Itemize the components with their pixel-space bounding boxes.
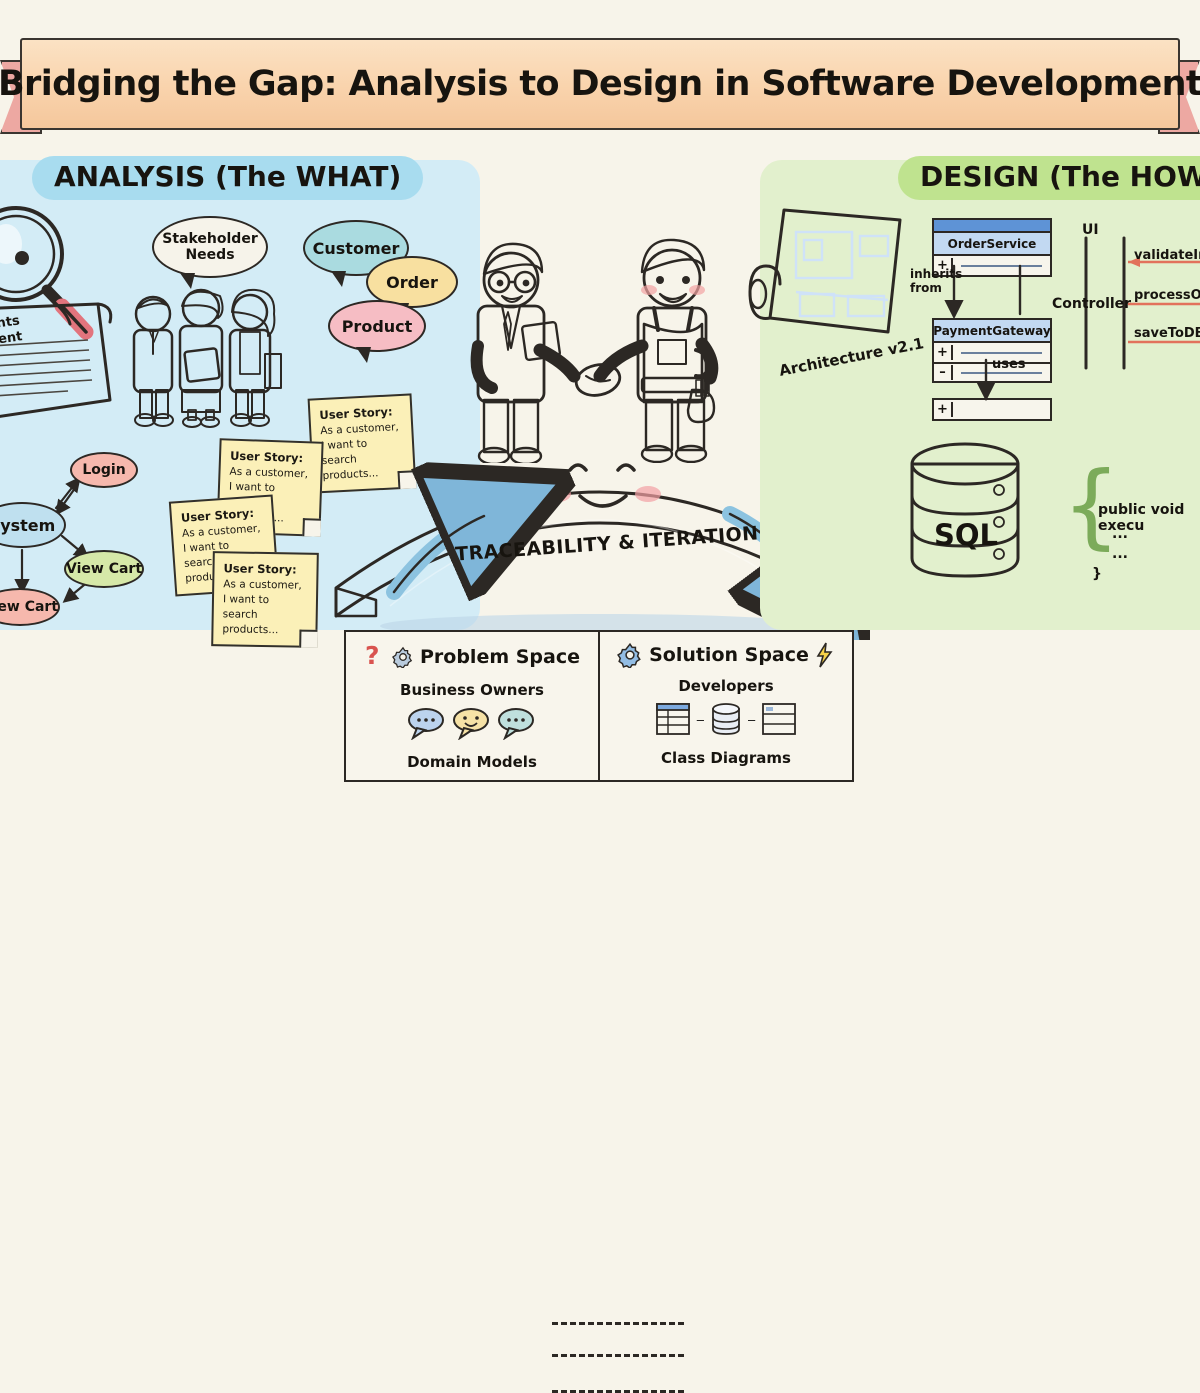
sequence-lifeline-controller: Controller [1052,296,1131,312]
sequence-message-save-to-db: saveToDB [1134,326,1200,341]
page-title: Bridging the Gap: Analysis to Design in … [0,64,1200,104]
legend-problem-space: ? Problem Space Business Owners [346,632,600,780]
sequence-lifeline-ui: UI [1082,222,1099,238]
table-grid-icon [654,701,692,737]
speech-bubble-blue-icon [407,706,447,740]
sql-database-label: SQL [934,518,998,552]
legend-problem-title: Problem Space [420,646,580,668]
analysis-section-heading: ANALYSIS (The WHAT) [32,156,423,200]
stakeholders-illustration [120,268,300,428]
sticky-line-2: I want to search [223,593,308,624]
legend-solution-space: Solution Space Developers – – [600,632,852,780]
uml-inherits-line-2: from [910,282,962,296]
sticky-note-user-story: User Story: As a customer, I want to sea… [211,551,319,648]
code-line-ellipsis-2: ... [1112,546,1128,562]
legend-icon-connector: – [697,712,704,727]
legend-icon-connector: – [748,712,755,727]
sticky-line-1: As a customer, [223,578,307,594]
usecase-node-login: Login [70,452,138,488]
legend-solution-icons: – – [600,698,852,740]
uml-class-name: OrderService [934,233,1050,256]
speech-bubble-teal-icon [497,706,537,740]
gear-icon [392,646,414,668]
legend-problem-heading: ? Problem Space [346,642,598,672]
stakeholder-needs-line-1: Stakeholder [162,231,257,247]
gear-icon [617,642,643,668]
uml-inherits-line-1: inherits [910,268,962,282]
legend-problem-icons [346,702,598,744]
uml-edge-uses-label: uses [992,358,1026,373]
code-close-brace: } [1092,566,1102,582]
sequence-message-process-order: processOrd [1134,288,1200,303]
sql-database-icon [900,438,1030,588]
speech-bubble-stakeholder-needs: Stakeholder Needs [152,216,268,278]
sticky-title: User Story: [230,448,313,467]
uml-edge-inherits-label: inherits from [910,268,962,296]
legend-solution-row-class-diagrams: Class Diagrams [600,749,852,767]
lightning-bolt-icon [815,642,835,668]
legend-connector-dash-2 [552,1354,684,1357]
design-section-heading: DESIGN (The HOW) [898,156,1200,200]
legend-solution-row-developers: Developers [600,677,852,695]
usecase-node-view-cart-green: View Cart [64,550,144,588]
stakeholder-needs-line-2: Needs [162,247,257,263]
infographic-canvas: Bridging the Gap: Analysis to Design in … [0,0,1200,800]
legend-problem-row-domain-models: Domain Models [346,753,598,771]
banner-plate: Bridging the Gap: Analysis to Design in … [20,38,1180,130]
uml-titlebar [934,220,1050,233]
sequence-message-validate-input: validateInp [1134,248,1200,263]
handshake-characters [452,228,752,463]
question-mark-icon: ? [364,642,386,672]
sticky-title: User Story: [223,560,307,578]
svg-text:?: ? [365,642,380,670]
legend-problem-row-business-owners: Business Owners [346,681,598,699]
legend-box: ? Problem Space Business Owners [344,630,854,782]
title-banner: Bridging the Gap: Analysis to Design in … [0,38,1200,150]
database-cylinder-icon [709,701,743,737]
legend-connector-dash-1 [552,1322,684,1325]
sticky-line-3: products... [222,622,306,638]
legend-solution-heading: Solution Space [600,642,852,668]
code-line-ellipsis-1: ... [1112,526,1128,542]
legend-solution-title: Solution Space [649,644,809,666]
speech-bubble-yellow-smiley-icon [452,706,492,740]
class-box-icon [760,701,798,737]
speech-bubble-product: Product [328,300,426,352]
